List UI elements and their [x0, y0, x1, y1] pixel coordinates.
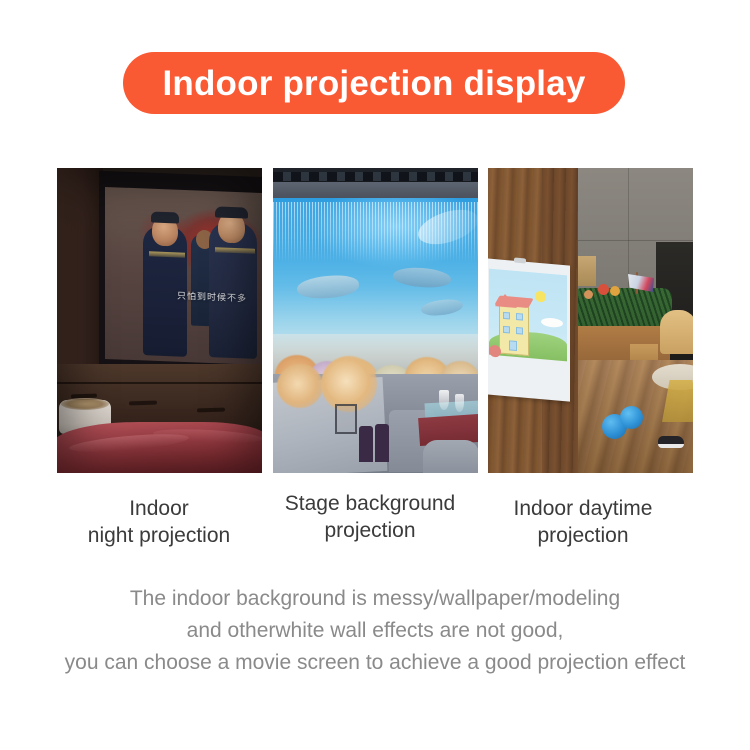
caption-line-2: projection — [468, 522, 698, 549]
caption-line-2: projection — [255, 517, 485, 544]
hanging-drapery-fringe — [273, 202, 478, 262]
gallery-image-indoor-daytime-projection[interactable] — [488, 168, 693, 473]
caption-line-1: Indoor — [44, 495, 274, 522]
description-line-3: you can choose a movie screen to achieve… — [0, 647, 750, 679]
drawing-window — [503, 326, 510, 334]
plant-ornament — [584, 290, 593, 299]
page-title: Indoor projection display — [162, 66, 585, 101]
description-line-2: and otherwhite wall effects are not good… — [0, 615, 750, 647]
caption-line-2: night projection — [44, 522, 274, 549]
description-paragraph: The indoor background is messy/wallpaper… — [0, 583, 750, 679]
drawing-cloud — [541, 317, 563, 328]
screen-clip — [514, 257, 526, 263]
gallery-image-stage-background-projection[interactable] — [273, 168, 478, 473]
lighting-truss — [273, 172, 478, 181]
plant-ornament — [610, 286, 620, 296]
blue-ball — [620, 406, 643, 429]
drawing-window — [516, 327, 523, 335]
drawing-house-gable — [495, 293, 517, 308]
purple-chair — [375, 424, 389, 462]
caption-line-1: Stage background — [255, 490, 485, 517]
page-title-banner: Indoor projection display — [123, 52, 625, 114]
shoe-sole — [658, 444, 684, 448]
caption-indoor-night-projection: Indoor night projection — [44, 495, 274, 549]
floral-stand — [335, 404, 357, 434]
wall-seam — [566, 240, 693, 241]
night-room-scene: 只怕到时候不多 — [57, 168, 262, 473]
plant-ornament — [598, 284, 609, 295]
drawing-bush — [489, 345, 501, 358]
gallery-image-indoor-night-projection[interactable]: 只怕到时候不多 — [57, 168, 262, 473]
ceiling-band — [273, 182, 478, 199]
projected-house-drawing — [489, 269, 567, 378]
caption-stage-background-projection: Stage background projection — [255, 490, 485, 544]
drawing-window — [503, 312, 510, 320]
description-line-1: The indoor background is messy/wallpaper… — [0, 583, 750, 615]
photo-gallery: 只怕到时候不多 — [0, 168, 750, 473]
dried-floral-arrangement — [277, 364, 323, 408]
product-info-panel: Indoor projection display 只怕到时候不多 — [0, 0, 750, 750]
gallery-captions: Indoor night projection Stage background… — [0, 490, 750, 560]
stage-venue-scene — [273, 168, 478, 473]
caption-line-1: Indoor daytime — [468, 495, 698, 522]
wine-glass — [455, 394, 464, 412]
night-vignette — [57, 168, 262, 473]
purple-chair — [359, 426, 373, 462]
drawing-window — [516, 313, 523, 321]
caption-indoor-daytime-projection: Indoor daytime projection — [468, 495, 698, 549]
yellow-armchair — [660, 310, 693, 354]
drawing-sun — [535, 291, 546, 303]
drawing-door — [509, 340, 517, 351]
daytime-room-scene — [488, 168, 693, 473]
foreground-chair — [423, 440, 478, 473]
wine-glass — [439, 390, 449, 410]
